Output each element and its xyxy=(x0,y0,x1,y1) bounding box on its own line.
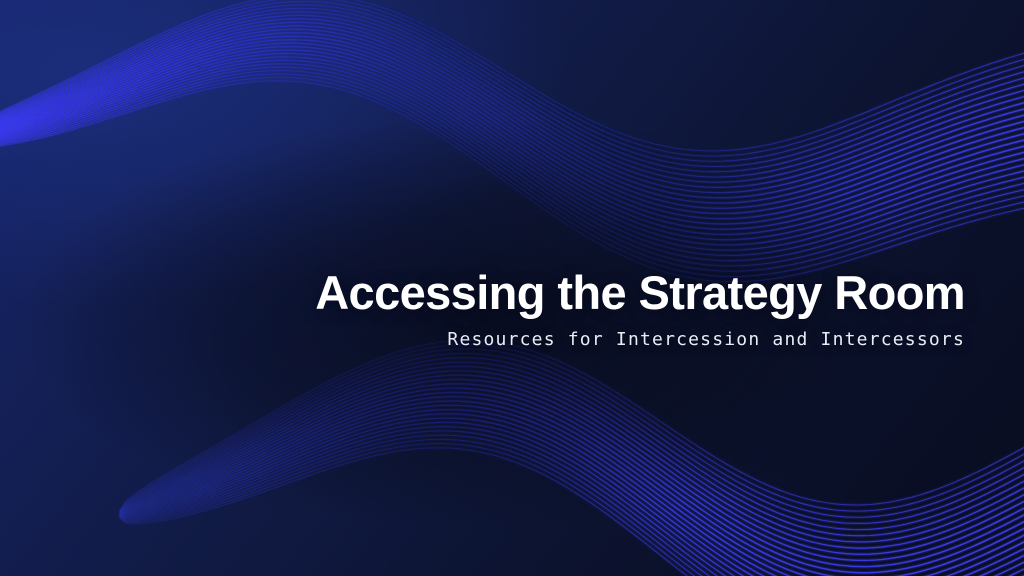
page-subtitle: Resources for Intercession and Intercess… xyxy=(0,329,965,351)
page-title: Accessing the Strategy Room xyxy=(0,268,965,319)
upper-wave-band xyxy=(0,0,1024,282)
presentation-slide: Accessing the Strategy Room Resources fo… xyxy=(0,0,1024,576)
title-block: Accessing the Strategy Room Resources fo… xyxy=(0,268,965,350)
lower-wave-band xyxy=(120,340,1024,576)
